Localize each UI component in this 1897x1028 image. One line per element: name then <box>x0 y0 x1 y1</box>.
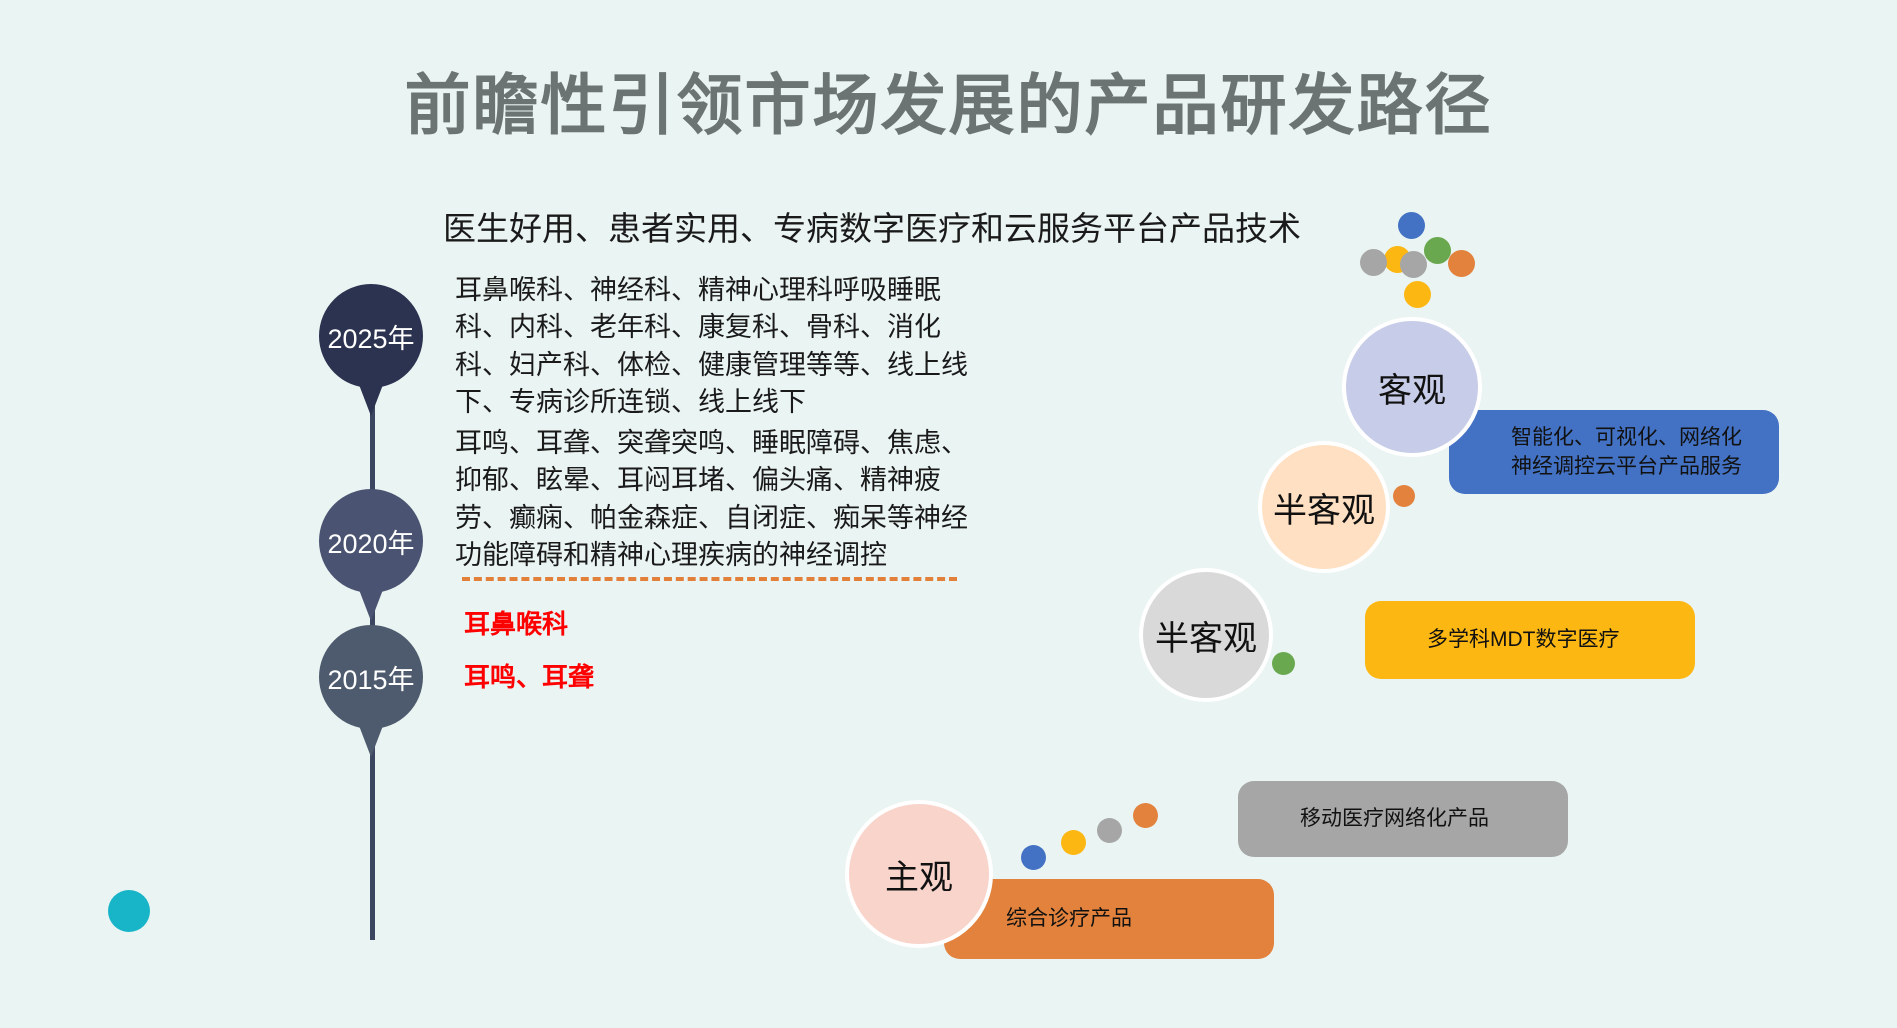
slide-canvas: 前瞻性引领市场发展的产品研发路径 医生好用、患者实用、专病数字医疗和云服务平台产… <box>0 0 1897 1028</box>
step-box-semi-objective-mdt: 多学科MDT数字医疗 <box>1365 601 1695 679</box>
page-subtitle: 医生好用、患者实用、专病数字医疗和云服务平台产品技术 <box>443 202 1301 250</box>
timeline-marker-2020: 2020年 <box>319 489 423 593</box>
stair-dot-orange <box>1133 803 1158 828</box>
connector-dot-orange <box>1393 485 1415 507</box>
step-box-semi-objective-mobile: 移动医疗网络化产品 <box>1238 781 1568 857</box>
highlight-condition: 耳鸣、耳聋 <box>464 657 594 694</box>
timeline-marker-2015: 2015年 <box>319 625 423 729</box>
step-circle-semi-objective-lower: 半客观 <box>1139 568 1273 702</box>
timeline-marker-2025-label: 2025年 <box>327 317 414 356</box>
condition-list-paragraph: 耳鸣、耳聋、突聋突鸣、睡眠障碍、焦虑、抑郁、眩晕、耳闷耳堵、偏头痛、精神疲劳、癫… <box>455 425 985 574</box>
decorative-dot-orange <box>1448 250 1475 277</box>
timeline-marker-2020-label: 2020年 <box>327 522 414 561</box>
dashed-divider <box>462 577 957 581</box>
timeline-marker-2025: 2025年 <box>319 284 423 388</box>
page-title: 前瞻性引领市场发展的产品研发路径 <box>0 52 1897 148</box>
department-list-paragraph: 耳鼻喉科、神经科、精神心理科呼吸睡眠科、内科、老年科、康复科、骨科、消化科、妇产… <box>455 272 985 421</box>
step-box-objective: 智能化、可视化、网络化神经调控云平台产品服务 <box>1449 410 1779 494</box>
step-circle-semi-objective-upper: 半客观 <box>1258 441 1390 573</box>
stair-dot-blue <box>1021 845 1046 870</box>
decorative-dot-blue <box>1398 212 1425 239</box>
decorative-dot-yellow-2 <box>1404 281 1431 308</box>
step-circle-subjective: 主观 <box>845 800 993 948</box>
decorative-dot-green <box>1424 237 1451 264</box>
decorative-dot-gray <box>1360 249 1387 276</box>
decorative-dot-teal <box>108 890 150 932</box>
step-circle-objective: 客观 <box>1342 317 1482 457</box>
stair-dot-yellow <box>1061 830 1086 855</box>
connector-dot-green <box>1272 652 1295 675</box>
timeline-marker-2015-label: 2015年 <box>327 658 414 697</box>
step-box-subjective: 综合诊疗产品 <box>944 879 1274 959</box>
decorative-dot-gray-2 <box>1400 251 1427 278</box>
highlight-department: 耳鼻喉科 <box>464 604 568 641</box>
stair-dot-gray <box>1097 818 1122 843</box>
